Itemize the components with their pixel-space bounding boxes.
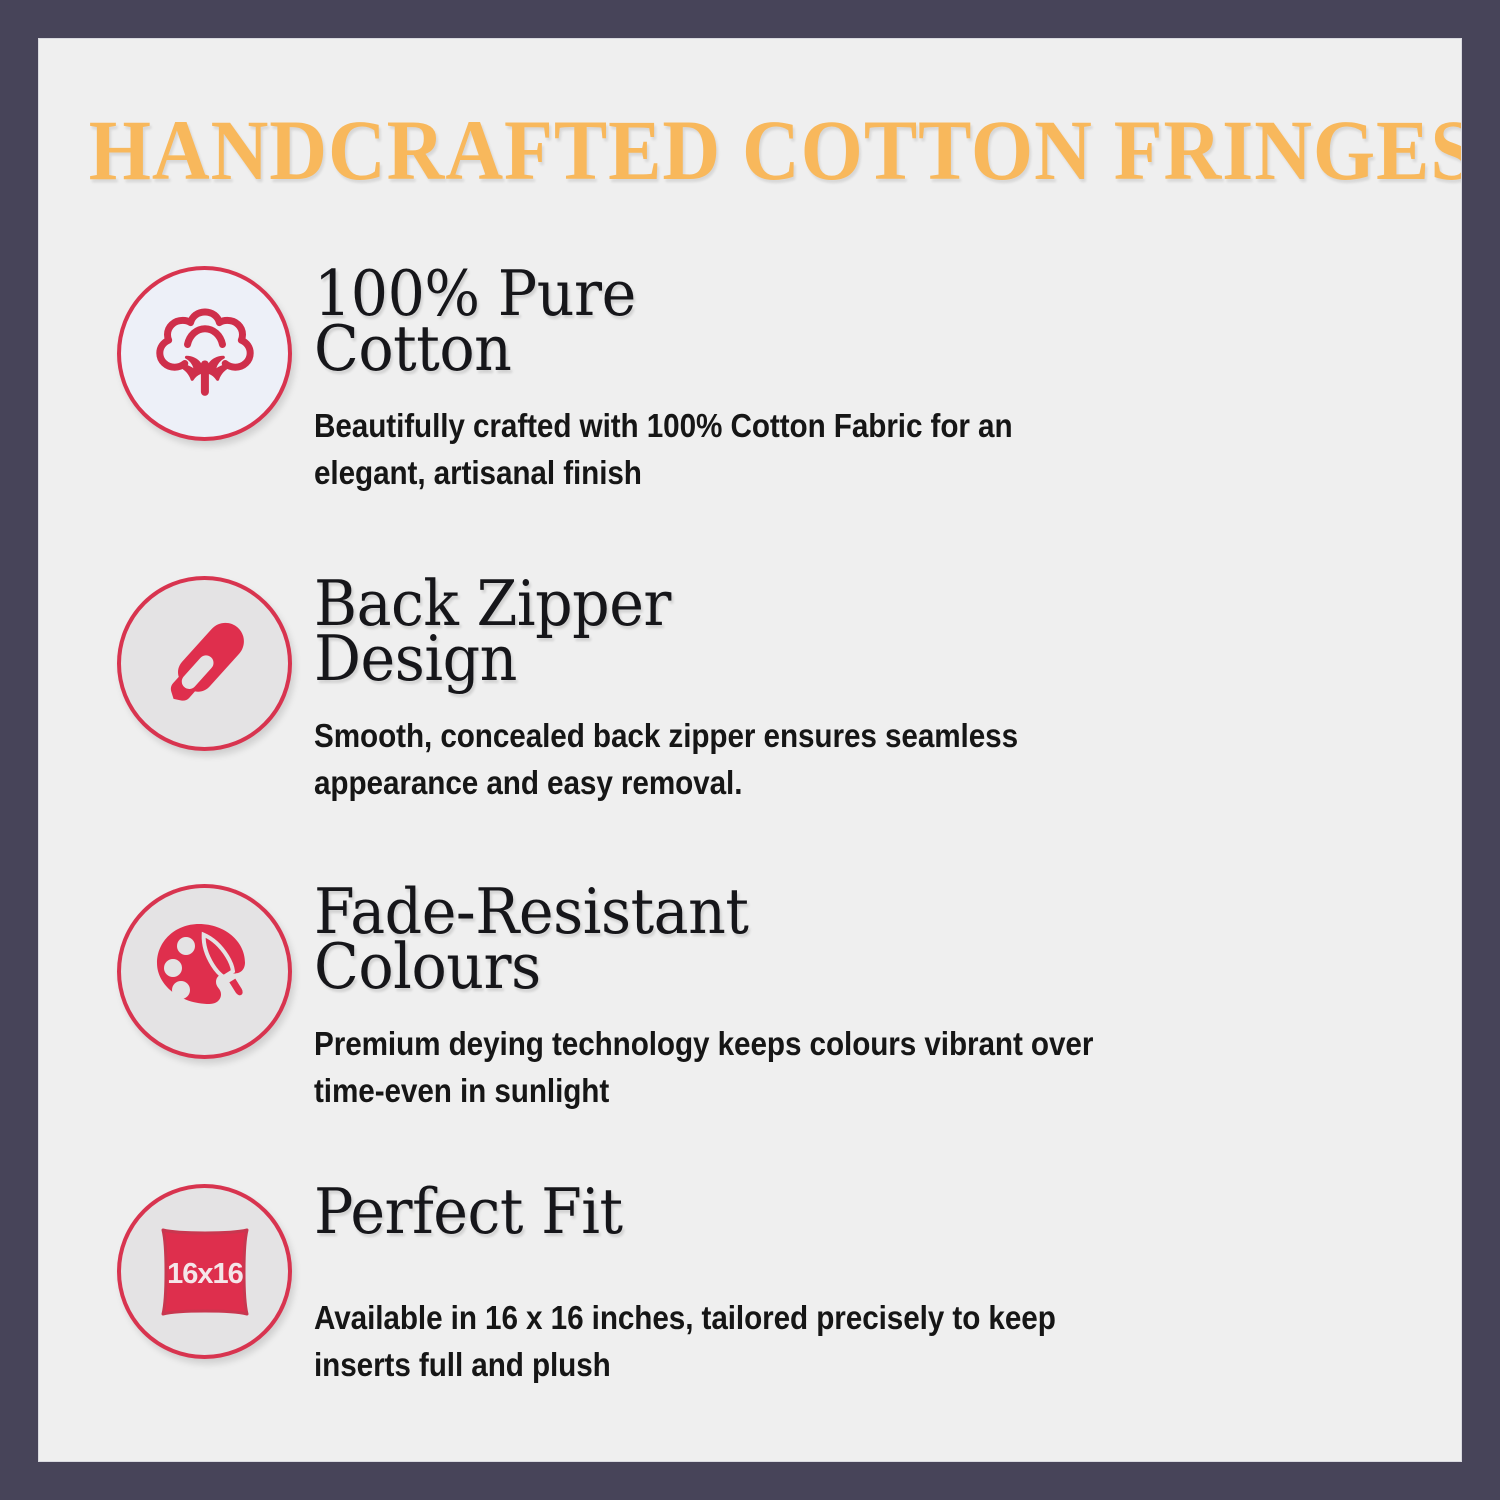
paint-palette-icon <box>117 884 292 1059</box>
feature-title: 100% Pure Cotton <box>314 266 1325 377</box>
feature-icon-wrap <box>117 266 292 441</box>
feature-title: Back Zipper Design <box>314 576 1325 687</box>
feature-list: 100% Pure Cotton Beautifully crafted wit… <box>39 244 1461 1461</box>
feature-item-back-zipper: Back Zipper Design Smooth, concealed bac… <box>117 576 1401 807</box>
feature-text: Fade-Resistant Colours Premium deying te… <box>314 884 1401 1115</box>
poster-frame: HANDCRAFTED COTTON FRINGES <box>0 0 1500 1500</box>
feature-title: Perfect Fit <box>314 1184 1325 1239</box>
cotton-boll-icon <box>117 266 292 441</box>
feature-description: Available in 16 x 16 inches, tailored pr… <box>314 1239 1268 1389</box>
content-panel: HANDCRAFTED COTTON FRINGES <box>38 38 1462 1462</box>
zipper-pull-icon <box>117 576 292 751</box>
feature-text: Perfect Fit Available in 16 x 16 inches,… <box>314 1184 1401 1389</box>
page-title: HANDCRAFTED COTTON FRINGES <box>89 107 1411 193</box>
cushion-size-icon: 16x16 <box>117 1184 292 1359</box>
feature-item-perfect-fit: 16x16 Perfect Fit Available in 16 x 16 i… <box>117 1184 1401 1389</box>
feature-description: Beautifully crafted with 100% Cotton Fab… <box>314 377 1268 497</box>
feature-icon-wrap <box>117 576 292 751</box>
cushion-size-label: 16x16 <box>167 1258 244 1290</box>
feature-icon-wrap: 16x16 <box>117 1184 292 1359</box>
feature-item-pure-cotton: 100% Pure Cotton Beautifully crafted wit… <box>117 266 1401 497</box>
feature-item-fade-resistant: Fade-Resistant Colours Premium deying te… <box>117 884 1401 1115</box>
feature-text: Back Zipper Design Smooth, concealed bac… <box>314 576 1401 807</box>
feature-description: Premium deying technology keeps colours … <box>314 995 1268 1115</box>
feature-icon-wrap <box>117 884 292 1059</box>
feature-description: Smooth, concealed back zipper ensures se… <box>314 687 1268 807</box>
feature-title: Fade-Resistant Colours <box>314 884 1325 995</box>
feature-text: 100% Pure Cotton Beautifully crafted wit… <box>314 266 1401 497</box>
